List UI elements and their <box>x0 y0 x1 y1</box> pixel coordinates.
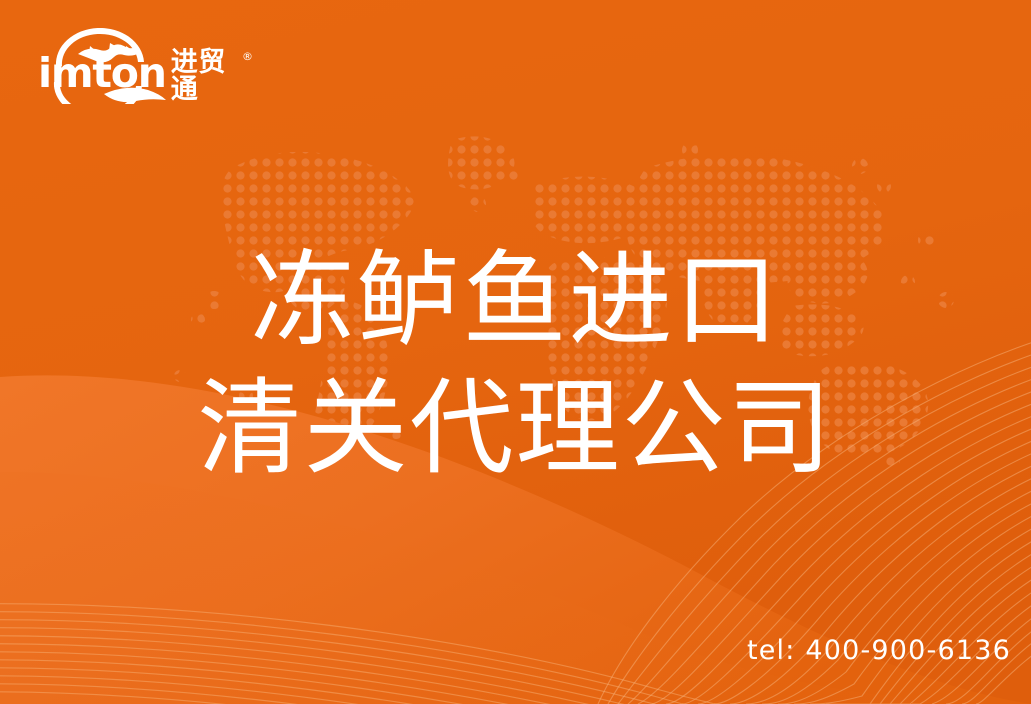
page-title: 冻鲈鱼进口 清关代理公司 <box>0 236 1031 492</box>
brand-logo[interactable]: imton 进贸通 ® <box>38 28 253 104</box>
page-title-line-1: 冻鲈鱼进口 <box>0 236 1031 364</box>
page-title-line-2: 清关代理公司 <box>0 364 1031 492</box>
poster-canvas: imton 进贸通 ® 冻鲈鱼进口 清关代理公司 tel: 400-900-61… <box>0 0 1031 704</box>
logo-latin-name: imton <box>38 53 166 94</box>
logo-wordmark: imton 进贸通 ® <box>38 50 253 96</box>
logo-chinese-name: 进贸通 <box>171 49 241 103</box>
contact-phone[interactable]: tel: 400-900-6136 <box>747 635 1011 666</box>
trademark-symbol: ® <box>242 50 253 63</box>
